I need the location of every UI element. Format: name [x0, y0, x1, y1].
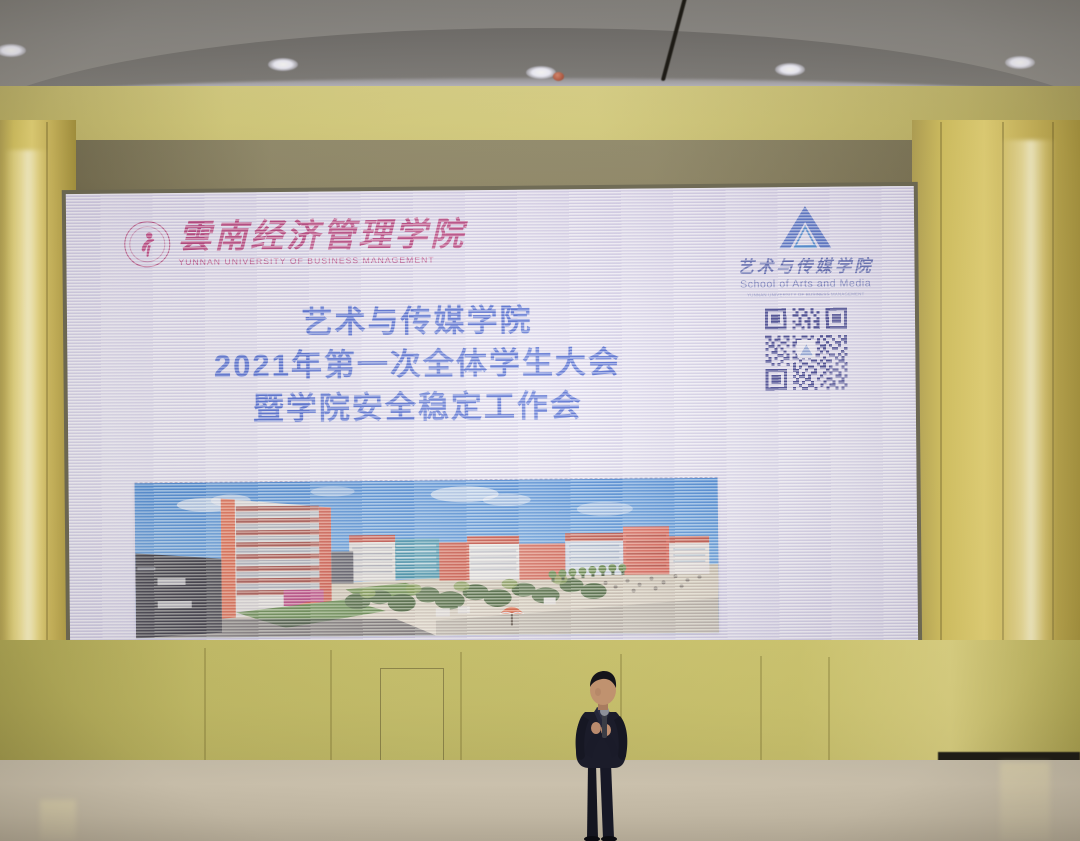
slide-title-line-2: 2021年第一次全体学生大会	[67, 340, 767, 389]
ceiling-spotlight	[526, 66, 556, 79]
wall-seam	[940, 122, 942, 662]
slide-title-line-1: 艺术与传媒学院	[67, 297, 767, 346]
university-name-en: YUNNAN UNIVERSITY OF BUSINESS MANAGEMENT	[178, 254, 466, 266]
service-door[interactable]	[380, 668, 444, 765]
university-logo: 雲南经济管理学院 YUNNAN UNIVERSITY OF BUSINESS M…	[124, 218, 466, 267]
smoke-detector-icon	[553, 72, 564, 81]
lower-wall-seam	[460, 652, 462, 766]
school-name-en: School of Arts and Media	[731, 277, 881, 290]
slide-title-block: 艺术与传媒学院 2021年第一次全体学生大会 暨学院安全稳定工作会	[67, 297, 768, 432]
ceiling-spotlight	[1005, 56, 1035, 69]
conference-hall-scene: 雲南经济管理学院 YUNNAN UNIVERSITY OF BUSINESS M…	[0, 0, 1080, 841]
floor-reflection	[40, 800, 76, 841]
qr-code-icon[interactable]	[762, 304, 851, 393]
wall-accent-glow	[4, 150, 48, 670]
university-logo-text: 雲南经济管理学院 YUNNAN UNIVERSITY OF BUSINESS M…	[178, 218, 466, 266]
crest-figure-icon	[136, 231, 158, 257]
ceiling-spotlight	[775, 63, 805, 76]
campus-photo-illustration	[135, 478, 719, 639]
presenter	[556, 668, 651, 841]
presenter-figure	[556, 668, 651, 841]
university-name-cn: 雲南经济管理学院	[178, 218, 466, 255]
campus-panorama-photo	[135, 477, 719, 639]
floor-reflection	[1000, 762, 1050, 841]
ceiling-spotlight	[268, 58, 298, 71]
lower-wall-seam	[760, 656, 762, 766]
lower-wall-seam	[828, 657, 830, 765]
led-screen[interactable]: 雲南经济管理学院 YUNNAN UNIVERSITY OF BUSINESS M…	[66, 186, 918, 660]
arts-media-triangle-icon	[776, 203, 834, 252]
lower-wall-seam	[330, 650, 332, 766]
university-crest-icon	[124, 221, 170, 267]
slide-title-line-3: 暨学院安全稳定工作会	[68, 383, 768, 432]
lower-yellow-wall	[0, 640, 1080, 770]
school-name-cn: 艺术与传媒学院	[730, 252, 880, 277]
lower-wall-seam	[204, 648, 206, 766]
floor	[0, 760, 1080, 841]
